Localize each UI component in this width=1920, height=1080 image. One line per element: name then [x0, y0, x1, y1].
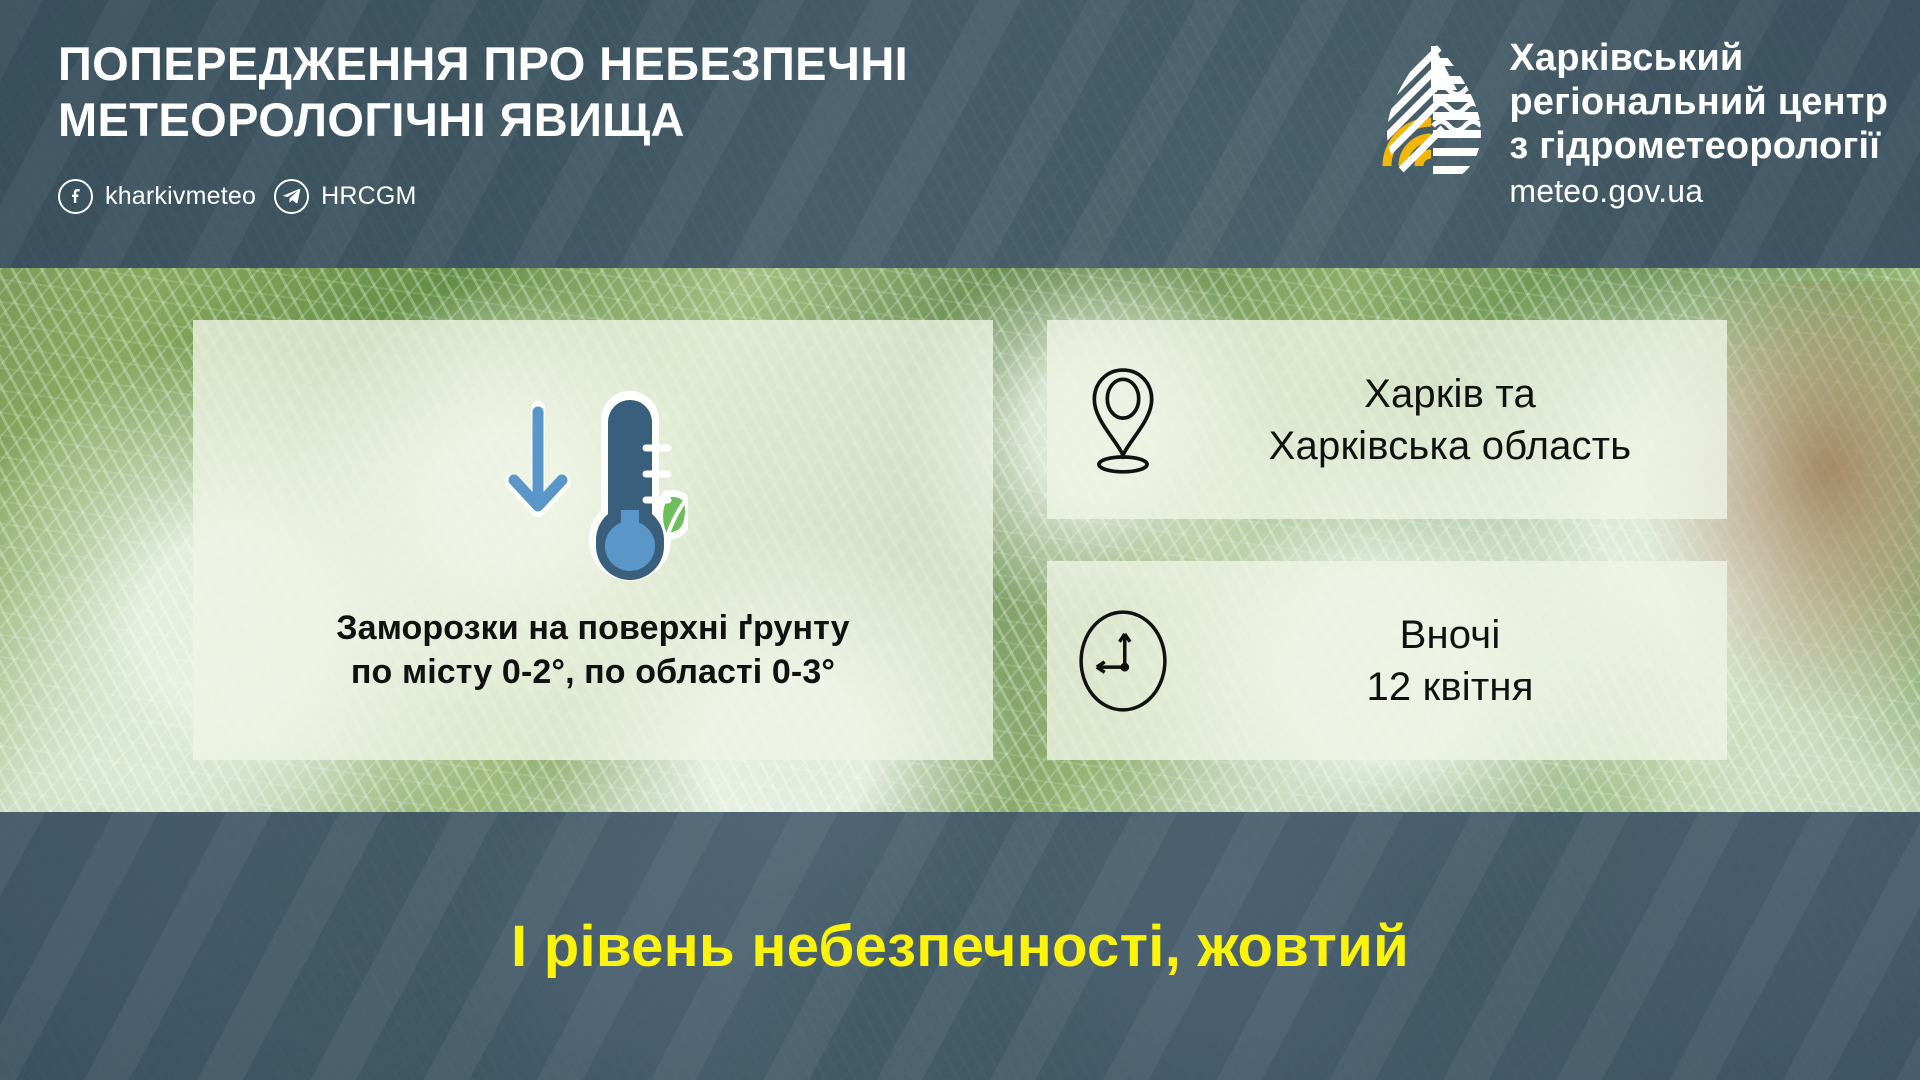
- facebook-icon: [58, 179, 93, 214]
- map-pin-icon: [1073, 364, 1173, 476]
- telegram-icon: [274, 179, 309, 214]
- location-text: Харків та Харківська область: [1199, 368, 1701, 472]
- danger-level-text: І рівень небезпечності, жовтий: [511, 913, 1409, 980]
- location-text-line-1: Харків та: [1364, 372, 1536, 416]
- condition-card: Заморозки на поверхні ґрунту по місту 0-…: [193, 320, 993, 760]
- org-line-1: Харківський: [1509, 36, 1888, 80]
- social-link-facebook[interactable]: kharkivmeteo: [58, 179, 256, 214]
- org-website[interactable]: meteo.gov.ua: [1509, 172, 1888, 210]
- condition-text: Заморозки на поверхні ґрунту по місту 0-…: [336, 606, 849, 694]
- clock-icon: [1073, 604, 1173, 718]
- main-content: Заморозки на поверхні ґрунту по місту 0-…: [0, 268, 1920, 812]
- condition-text-line-2: по місту 0-2°, по області 0-3°: [336, 650, 849, 694]
- time-text: Вночі 12 квітня: [1199, 609, 1701, 713]
- info-cards-column: Харків та Харківська область: [1047, 320, 1727, 760]
- time-card: Вночі 12 квітня: [1047, 561, 1727, 760]
- page-title-line-2: МЕТЕОРОЛОГІЧНІ ЯВИЩА: [58, 92, 908, 148]
- social-label-telegram: HRCGM: [321, 182, 416, 211]
- org-line-2: регіональний центр: [1509, 80, 1888, 124]
- org-line-3: з гідрометеорології: [1509, 124, 1888, 168]
- social-links: kharkivmeteo HRCGM: [58, 179, 908, 214]
- page-title: ПОПЕРЕДЖЕННЯ ПРО НЕБЕЗПЕЧНІ МЕТЕОРОЛОГІЧ…: [58, 36, 908, 149]
- time-text-line-2: 12 квітня: [1199, 661, 1701, 713]
- header-left-group: ПОПЕРЕДЖЕННЯ ПРО НЕБЕЗПЕЧНІ МЕТЕОРОЛОГІЧ…: [58, 36, 908, 214]
- droplet-leaf-logo-icon: [1381, 40, 1487, 186]
- location-text-line-2: Харківська область: [1199, 420, 1701, 472]
- page-title-line-1: ПОПЕРЕДЖЕННЯ ПРО НЕБЕЗПЕЧНІ: [58, 37, 908, 90]
- social-label-facebook: kharkivmeteo: [105, 182, 256, 211]
- time-text-line-1: Вночі: [1400, 613, 1501, 657]
- header-right-group: Харківський регіональний центр з гідроме…: [1381, 36, 1896, 211]
- location-card: Харків та Харківська область: [1047, 320, 1727, 519]
- organization-name: Харківський регіональний центр з гідроме…: [1509, 36, 1888, 211]
- header-band: ПОПЕРЕДЖЕННЯ ПРО НЕБЕЗПЕЧНІ МЕТЕОРОЛОГІЧ…: [0, 0, 1920, 268]
- weather-warning-poster: ПОПЕРЕДЖЕННЯ ПРО НЕБЕЗПЕЧНІ МЕТЕОРОЛОГІЧ…: [0, 0, 1920, 1080]
- condition-text-line-1: Заморозки на поверхні ґрунту: [336, 609, 849, 647]
- social-link-telegram[interactable]: HRCGM: [274, 179, 416, 214]
- footer-band: І рівень небезпечності, жовтий: [0, 812, 1920, 1080]
- thermometer-down-arrow-leaf-icon: [498, 386, 688, 596]
